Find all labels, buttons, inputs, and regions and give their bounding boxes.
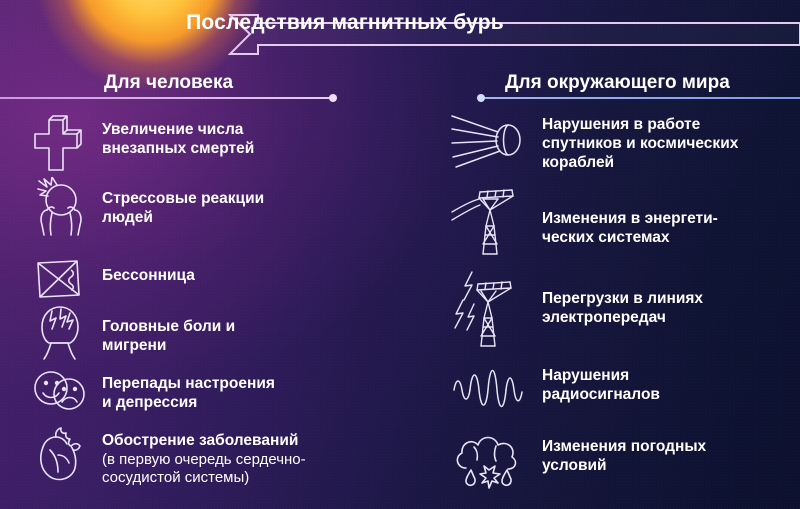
list-item-subtext: (в первую очередь сердечно- сосудистой с… <box>102 451 306 488</box>
list-item-label: Нарушения радиосигналов <box>542 360 660 405</box>
pylon-lightning-icon <box>450 270 526 348</box>
list-item: Обострение заболеваний (в первую очередь… <box>30 425 306 488</box>
left-column-rule <box>0 97 336 99</box>
list-item-label: Перепады настроения и депрессия <box>102 368 275 413</box>
crossed-bed-icon <box>30 255 88 301</box>
list-item-title: Обострение заболеваний <box>102 432 298 449</box>
list-item: Стрессовые реакции людей <box>30 177 264 239</box>
page-title: Последствия магнитных бурь <box>130 11 560 35</box>
list-item-label: Бессонница <box>102 255 195 286</box>
column-header-human: Для человека <box>104 72 233 94</box>
list-item-label: Обострение заболеваний (в первую очередь… <box>102 425 306 488</box>
list-item: Изменения погодных условий <box>450 430 706 492</box>
list-item-label: Перегрузки в линиях электропередач <box>542 270 703 328</box>
right-column-rule <box>478 97 800 99</box>
infographic-poster: Последствия магнитных бурь Для человека … <box>0 0 800 509</box>
cloud-weather-icon <box>450 430 526 492</box>
mood-faces-icon <box>30 368 88 414</box>
right-rule-dot <box>477 94 485 102</box>
list-item-label: Увеличение числа внезапных смертей <box>102 112 254 159</box>
list-item-label: Нарушения в работе спутников и космическ… <box>542 110 738 173</box>
power-pylon-icon <box>450 186 526 258</box>
list-item: Головные боли и мигрени <box>30 303 235 365</box>
list-item: Бессонница <box>30 255 195 301</box>
list-item-label: Стрессовые реакции людей <box>102 177 264 228</box>
heart-icon <box>30 425 88 487</box>
list-item-label: Изменения в энергети- ческих системах <box>542 186 718 248</box>
column-header-environment: Для окружающего мира <box>505 72 730 94</box>
satellite-icon <box>450 110 526 172</box>
list-item-label: Головные боли и мигрени <box>102 303 235 356</box>
headache-icon <box>30 303 88 365</box>
list-item: Изменения в энергети- ческих системах <box>450 186 718 258</box>
stressed-head-icon <box>30 177 88 239</box>
radio-wave-icon <box>450 360 526 416</box>
list-item: Перегрузки в линиях электропередач <box>450 270 703 348</box>
list-item: Перепады настроения и депрессия <box>30 368 275 414</box>
list-item-label: Изменения погодных условий <box>542 430 706 476</box>
left-rule-dot <box>329 94 337 102</box>
cross-icon <box>30 112 88 174</box>
list-item: Увеличение числа внезапных смертей <box>30 112 254 174</box>
list-item: Нарушения радиосигналов <box>450 360 660 416</box>
list-item: Нарушения в работе спутников и космическ… <box>450 110 738 173</box>
